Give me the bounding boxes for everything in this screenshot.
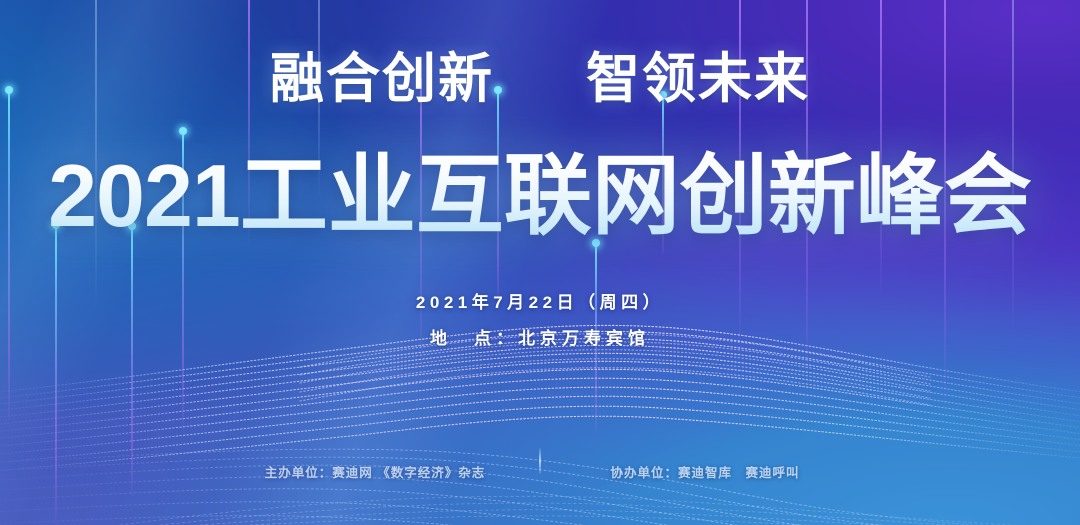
event-date: 2021年7月22日（周四） — [416, 288, 664, 313]
event-venue: 地 点：北京万寿宾馆 — [416, 324, 664, 349]
event-details: 2021年7月22日（周四） 地 点：北京万寿宾馆 — [416, 288, 664, 349]
footer-credits: 主办单位：赛迪网 《数字经济》杂志 协办单位：赛迪智库 赛迪呼叫 — [0, 458, 1080, 484]
title-year: 2021 — [48, 146, 240, 245]
tagline-right: 智领未来 — [586, 34, 810, 113]
page-title: 2021工业互联网创新峰会 — [48, 125, 1032, 252]
poster-content: 融合创新 智领未来 2021工业互联网创新峰会 2021年7月22日（周四） 地… — [0, 0, 1080, 525]
organizer-text: 主办单位：赛迪网 《数字经济》杂志 — [225, 462, 525, 481]
title-main: 工业互联网创新峰会 — [240, 146, 1032, 245]
tagline: 融合创新 智领未来 — [270, 34, 810, 113]
co-organizer-text: 协办单位：赛迪智库 赛迪呼叫 — [555, 462, 855, 481]
tagline-left: 融合创新 — [270, 34, 494, 113]
conference-poster: 融合创新 智领未来 2021工业互联网创新峰会 2021年7月22日（周四） 地… — [0, 0, 1080, 525]
footer-separator — [539, 448, 541, 474]
